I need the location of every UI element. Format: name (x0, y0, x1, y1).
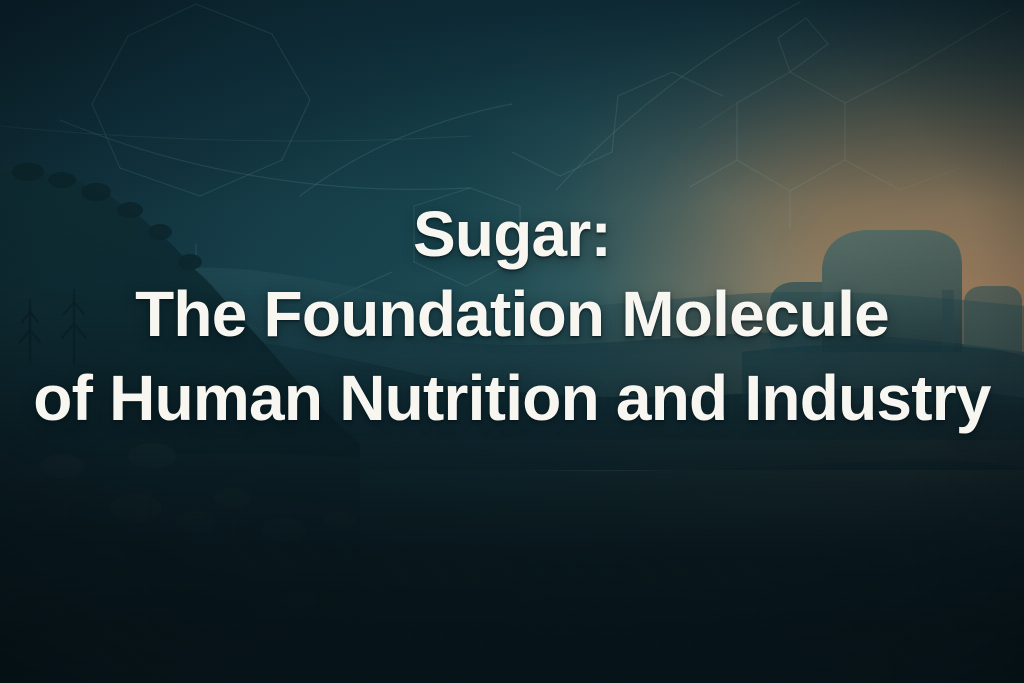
title-card: Sugar: The Foundation Molecule of Human … (0, 0, 1024, 683)
title-block: Sugar: The Foundation Molecule of Human … (0, 196, 1024, 440)
title-line-2: The Foundation Molecule (14, 272, 1010, 356)
title-line-3: of Human Nutrition and Industry (14, 356, 1010, 440)
title-line-1: Sugar: (14, 196, 1010, 272)
